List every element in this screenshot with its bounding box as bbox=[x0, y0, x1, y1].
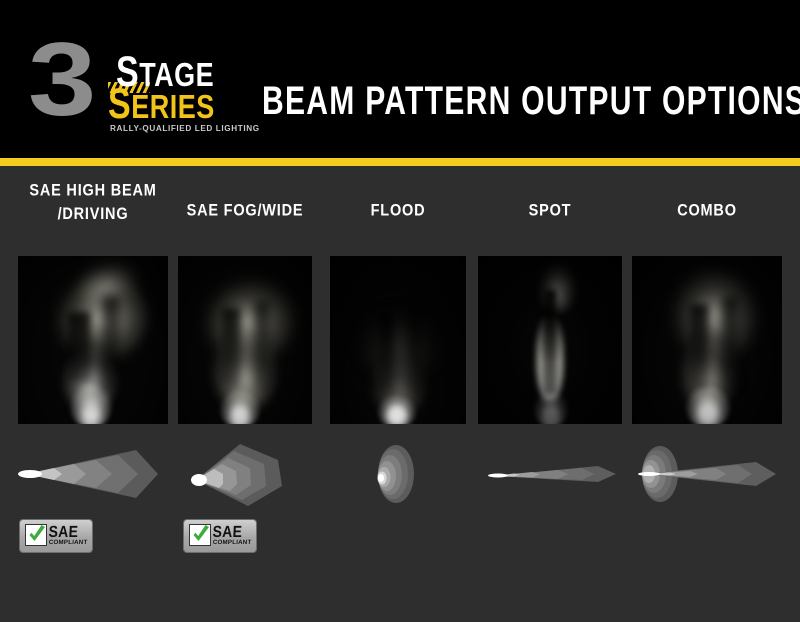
sae-compliant-badge-fog-wide: SAE COMPLIANT bbox=[184, 520, 256, 552]
photo-flood bbox=[330, 256, 466, 424]
column-combo: COMBO bbox=[632, 166, 782, 622]
photo-scene bbox=[478, 256, 622, 424]
check-icon bbox=[27, 525, 47, 545]
photo-scene bbox=[18, 256, 168, 424]
beam-svg bbox=[18, 438, 168, 510]
beam-diagram-combo bbox=[632, 438, 782, 510]
photo-scene bbox=[330, 256, 466, 424]
label-line-2: /DRIVING bbox=[14, 204, 172, 228]
page-title: BEAM PATTERN OUTPUT OPTIONS bbox=[262, 80, 800, 120]
check-icon bbox=[191, 525, 211, 545]
photo-vignette bbox=[178, 256, 312, 424]
photo-sae-fog-wide bbox=[178, 256, 312, 424]
photo-vignette bbox=[632, 256, 782, 424]
photo-vignette bbox=[478, 256, 622, 424]
accent-divider bbox=[0, 158, 800, 166]
column-flood: FLOOD bbox=[330, 166, 466, 622]
sae-compliant-badge-high-beam: SAE COMPLIANT bbox=[20, 520, 92, 552]
beam-svg bbox=[178, 438, 312, 510]
badge-title: SAE bbox=[212, 523, 242, 539]
beam-pattern-grid: SAE HIGH BEAM /DRIVING bbox=[0, 166, 800, 622]
stage-series-logo: 3 STAGE SERIES RALLY-QUALIFIED LED LIGHT… bbox=[28, 30, 258, 135]
photo-combo bbox=[632, 256, 782, 424]
photo-vignette bbox=[18, 256, 168, 424]
label-line-1: SAE HIGH BEAM bbox=[14, 180, 172, 204]
photo-scene bbox=[178, 256, 312, 424]
beam-svg bbox=[478, 438, 622, 510]
logo-series-capital: S bbox=[108, 81, 131, 129]
column-sae-fog-wide: SAE FOG/WIDE bbox=[178, 166, 312, 622]
column-label-sae-high-beam-driving: SAE HIGH BEAM /DRIVING bbox=[14, 180, 172, 227]
badge-title: SAE bbox=[48, 523, 78, 539]
column-label-flood: FLOOD bbox=[330, 200, 466, 224]
photo-spot bbox=[478, 256, 622, 424]
beam-diagram-sae-fog-wide bbox=[178, 438, 312, 510]
beam-diagram-spot bbox=[478, 438, 622, 510]
label-line-1: SAE FOG/WIDE bbox=[178, 200, 312, 224]
column-label-sae-fog-wide: SAE FOG/WIDE bbox=[178, 200, 312, 224]
badge-subtitle: COMPLIANT bbox=[49, 539, 88, 546]
column-spot: SPOT bbox=[478, 166, 622, 622]
column-sae-high-beam-driving: SAE HIGH BEAM /DRIVING bbox=[18, 166, 168, 622]
logo-series-rest: ERIES bbox=[131, 88, 215, 126]
photo-scene bbox=[632, 256, 782, 424]
logo-word-series: SERIES bbox=[108, 88, 215, 124]
logo-tagline: RALLY-QUALIFIED LED LIGHTING bbox=[110, 124, 260, 133]
beam-diagram-flood bbox=[330, 438, 466, 510]
checkbox-frame bbox=[189, 524, 211, 546]
label-line-1: SPOT bbox=[478, 200, 622, 224]
column-label-spot: SPOT bbox=[478, 200, 622, 224]
beam-pattern-infographic: 3 STAGE SERIES RALLY-QUALIFIED LED LIGHT… bbox=[0, 0, 800, 622]
header-bar: 3 STAGE SERIES RALLY-QUALIFIED LED LIGHT… bbox=[0, 0, 800, 158]
photo-sae-high-beam-driving bbox=[18, 256, 168, 424]
label-line-1: COMBO bbox=[632, 200, 782, 224]
label-line-1: FLOOD bbox=[330, 200, 466, 224]
beam-svg bbox=[330, 438, 466, 510]
badge-subtitle: COMPLIANT bbox=[213, 539, 252, 546]
beam-svg bbox=[632, 438, 782, 510]
column-label-combo: COMBO bbox=[632, 200, 782, 224]
logo-numeral-3: 3 bbox=[28, 28, 92, 132]
beam-diagram-sae-high-beam-driving bbox=[18, 438, 168, 510]
photo-vignette bbox=[330, 256, 466, 424]
checkbox-frame bbox=[25, 524, 47, 546]
